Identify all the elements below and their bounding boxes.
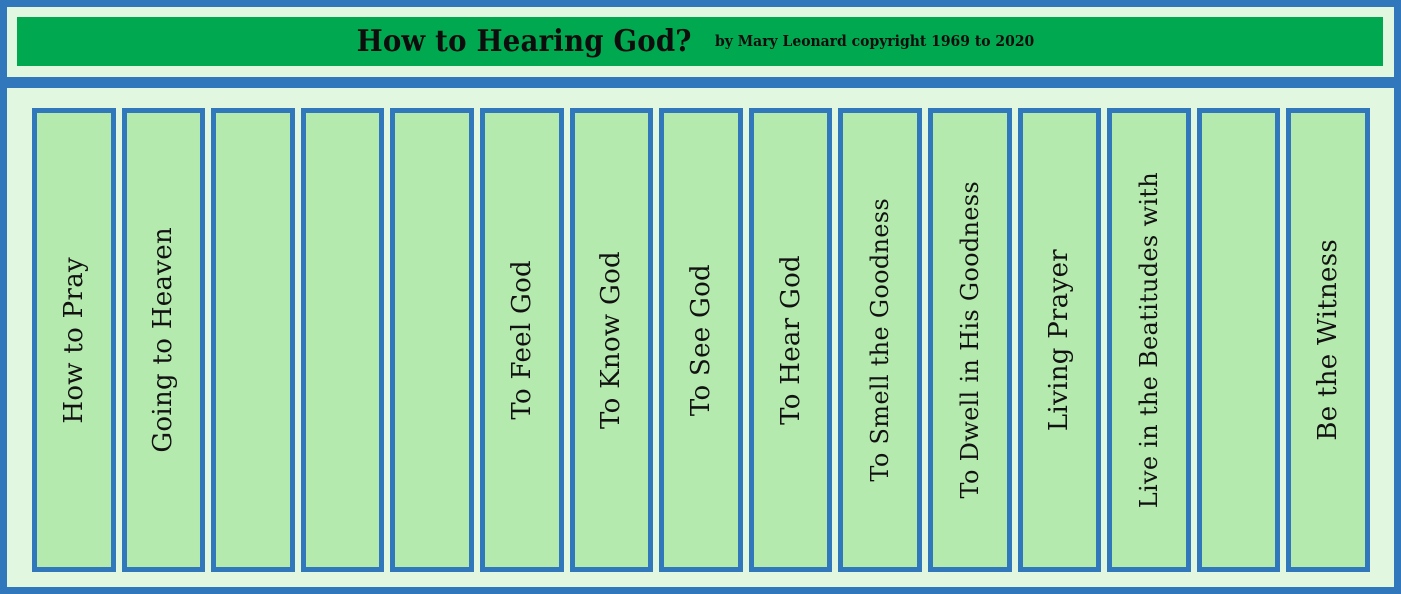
- column-cell[interactable]: To Smell the Goodness: [838, 108, 922, 572]
- column-label: To Know God: [598, 251, 624, 429]
- column-cell[interactable]: Live in the Beatitudes with: [1107, 108, 1191, 572]
- column-label: Live in the Beatitudes with: [1137, 172, 1161, 508]
- page-title: How to Hearing God?: [356, 27, 691, 57]
- body-frame: How to Pray Going to Heaven To Feel God …: [0, 83, 1401, 594]
- column-label: To See God: [688, 264, 714, 416]
- column-cell[interactable]: [301, 108, 385, 572]
- column-label: To Smell the Goodness: [868, 198, 892, 482]
- column-cell[interactable]: To Know God: [570, 108, 654, 572]
- column-cell[interactable]: To See God: [659, 108, 743, 572]
- column-cell[interactable]: Be the Witness: [1286, 108, 1370, 572]
- column-grid: How to Pray Going to Heaven To Feel God …: [32, 108, 1370, 572]
- column-label: To Dwell in His Goodness: [958, 181, 982, 498]
- column-label: How to Pray: [61, 257, 87, 424]
- column-label: Be the Witness: [1315, 239, 1341, 441]
- header-frame: How to Hearing God? by Mary Leonard copy…: [0, 0, 1401, 83]
- column-cell[interactable]: [390, 108, 474, 572]
- column-cell[interactable]: [211, 108, 295, 572]
- column-label: Going to Heaven: [150, 227, 176, 453]
- column-cell[interactable]: To Dwell in His Goodness: [928, 108, 1012, 572]
- column-cell[interactable]: Living Prayer: [1018, 108, 1102, 572]
- column-cell[interactable]: To Hear God: [749, 108, 833, 572]
- column-cell[interactable]: To Feel God: [480, 108, 564, 572]
- column-label: Living Prayer: [1046, 249, 1072, 431]
- column-cell[interactable]: Going to Heaven: [122, 108, 206, 572]
- column-cell[interactable]: How to Pray: [32, 108, 116, 572]
- column-cell[interactable]: [1197, 108, 1281, 572]
- title-bar: How to Hearing God? by Mary Leonard copy…: [17, 17, 1383, 66]
- column-label: To Feel God: [509, 260, 535, 420]
- author-byline: by Mary Leonard copyright 1969 to 2020: [715, 34, 1034, 49]
- column-label: To Hear God: [778, 255, 804, 425]
